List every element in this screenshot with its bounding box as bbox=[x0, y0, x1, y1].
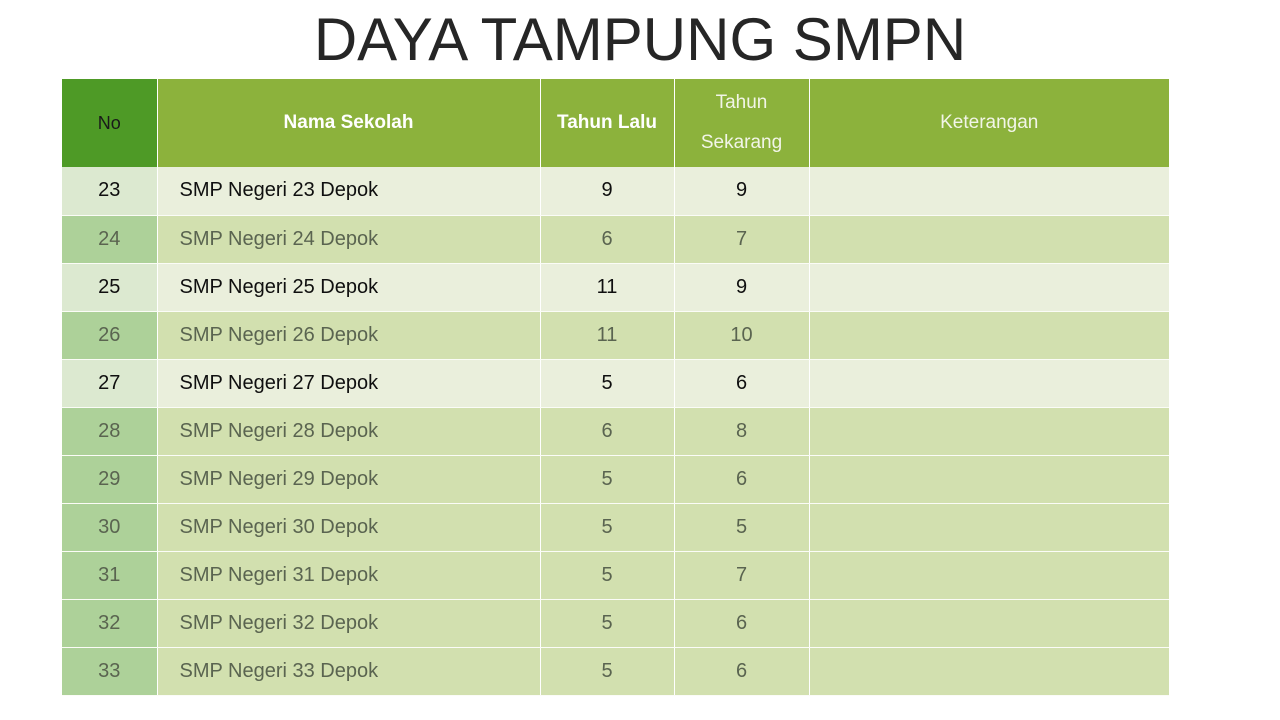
cell-no: 33 bbox=[62, 647, 157, 695]
page-title: DAYA TAMPUNG SMPN bbox=[0, 8, 1280, 72]
cell-no: 31 bbox=[62, 551, 157, 599]
cell-tahun-sekarang: 6 bbox=[674, 647, 809, 695]
column-header-no[interactable]: No bbox=[62, 79, 157, 167]
cell-tahun-sekarang: 9 bbox=[674, 263, 809, 311]
cell-keterangan bbox=[809, 359, 1169, 407]
cell-nama-sekolah: SMP Negeri 33 Depok bbox=[157, 647, 540, 695]
column-header-tahun-sekarang-line2: Sekarang bbox=[681, 123, 803, 163]
cell-tahun-lalu: 11 bbox=[540, 311, 674, 359]
cell-tahun-sekarang: 8 bbox=[674, 407, 809, 455]
cell-tahun-sekarang: 6 bbox=[674, 599, 809, 647]
cell-tahun-sekarang: 7 bbox=[674, 551, 809, 599]
cell-tahun-lalu: 6 bbox=[540, 215, 674, 263]
column-header-tahun-sekarang-line1: Tahun bbox=[681, 83, 803, 123]
cell-no: 32 bbox=[62, 599, 157, 647]
cell-nama-sekolah: SMP Negeri 23 Depok bbox=[157, 167, 540, 215]
cell-no: 24 bbox=[62, 215, 157, 263]
table-row[interactable]: 32SMP Negeri 32 Depok56 bbox=[62, 599, 1169, 647]
cell-no: 25 bbox=[62, 263, 157, 311]
cell-tahun-lalu: 11 bbox=[540, 263, 674, 311]
cell-nama-sekolah: SMP Negeri 25 Depok bbox=[157, 263, 540, 311]
table-body: 23SMP Negeri 23 Depok9924SMP Negeri 24 D… bbox=[62, 167, 1169, 695]
cell-no: 29 bbox=[62, 455, 157, 503]
cell-keterangan bbox=[809, 503, 1169, 551]
table-row[interactable]: 24SMP Negeri 24 Depok67 bbox=[62, 215, 1169, 263]
table-row[interactable]: 28SMP Negeri 28 Depok68 bbox=[62, 407, 1169, 455]
table-row[interactable]: 26SMP Negeri 26 Depok1110 bbox=[62, 311, 1169, 359]
cell-keterangan bbox=[809, 263, 1169, 311]
cell-tahun-lalu: 6 bbox=[540, 407, 674, 455]
cell-no: 23 bbox=[62, 167, 157, 215]
cell-nama-sekolah: SMP Negeri 32 Depok bbox=[157, 599, 540, 647]
cell-tahun-lalu: 5 bbox=[540, 359, 674, 407]
cell-nama-sekolah: SMP Negeri 26 Depok bbox=[157, 311, 540, 359]
cell-tahun-lalu: 5 bbox=[540, 551, 674, 599]
column-header-tahun-lalu[interactable]: Tahun Lalu bbox=[540, 79, 674, 167]
cell-keterangan bbox=[809, 407, 1169, 455]
table-header-row: No Nama Sekolah Tahun Lalu Tahun Sekaran… bbox=[62, 79, 1169, 167]
table-row[interactable]: 25SMP Negeri 25 Depok119 bbox=[62, 263, 1169, 311]
table-row[interactable]: 23SMP Negeri 23 Depok99 bbox=[62, 167, 1169, 215]
table-row[interactable]: 30SMP Negeri 30 Depok55 bbox=[62, 503, 1169, 551]
cell-tahun-sekarang: 9 bbox=[674, 167, 809, 215]
cell-tahun-lalu: 9 bbox=[540, 167, 674, 215]
cell-keterangan bbox=[809, 167, 1169, 215]
cell-nama-sekolah: SMP Negeri 28 Depok bbox=[157, 407, 540, 455]
cell-no: 30 bbox=[62, 503, 157, 551]
cell-no: 28 bbox=[62, 407, 157, 455]
table-header: No Nama Sekolah Tahun Lalu Tahun Sekaran… bbox=[62, 79, 1169, 167]
cell-tahun-lalu: 5 bbox=[540, 599, 674, 647]
cell-keterangan bbox=[809, 215, 1169, 263]
cell-keterangan bbox=[809, 647, 1169, 695]
cell-tahun-sekarang: 6 bbox=[674, 455, 809, 503]
cell-keterangan bbox=[809, 311, 1169, 359]
cell-keterangan bbox=[809, 455, 1169, 503]
cell-nama-sekolah: SMP Negeri 30 Depok bbox=[157, 503, 540, 551]
cell-nama-sekolah: SMP Negeri 27 Depok bbox=[157, 359, 540, 407]
cell-no: 26 bbox=[62, 311, 157, 359]
capacity-table: No Nama Sekolah Tahun Lalu Tahun Sekaran… bbox=[62, 79, 1169, 696]
cell-tahun-sekarang: 10 bbox=[674, 311, 809, 359]
table-row[interactable]: 29SMP Negeri 29 Depok56 bbox=[62, 455, 1169, 503]
cell-tahun-sekarang: 7 bbox=[674, 215, 809, 263]
column-header-keterangan[interactable]: Keterangan bbox=[809, 79, 1169, 167]
capacity-table-container: No Nama Sekolah Tahun Lalu Tahun Sekaran… bbox=[62, 79, 1169, 696]
table-row[interactable]: 33SMP Negeri 33 Depok56 bbox=[62, 647, 1169, 695]
cell-nama-sekolah: SMP Negeri 29 Depok bbox=[157, 455, 540, 503]
cell-tahun-lalu: 5 bbox=[540, 503, 674, 551]
cell-no: 27 bbox=[62, 359, 157, 407]
column-header-nama-sekolah[interactable]: Nama Sekolah bbox=[157, 79, 540, 167]
table-row[interactable]: 27SMP Negeri 27 Depok56 bbox=[62, 359, 1169, 407]
cell-tahun-lalu: 5 bbox=[540, 647, 674, 695]
column-header-tahun-sekarang[interactable]: Tahun Sekarang bbox=[674, 79, 809, 167]
cell-keterangan bbox=[809, 599, 1169, 647]
slide: DAYA TAMPUNG SMPN No Nama Sekolah Tahun … bbox=[0, 0, 1280, 720]
cell-keterangan bbox=[809, 551, 1169, 599]
cell-nama-sekolah: SMP Negeri 31 Depok bbox=[157, 551, 540, 599]
cell-tahun-sekarang: 6 bbox=[674, 359, 809, 407]
cell-nama-sekolah: SMP Negeri 24 Depok bbox=[157, 215, 540, 263]
cell-tahun-lalu: 5 bbox=[540, 455, 674, 503]
table-row[interactable]: 31SMP Negeri 31 Depok57 bbox=[62, 551, 1169, 599]
cell-tahun-sekarang: 5 bbox=[674, 503, 809, 551]
